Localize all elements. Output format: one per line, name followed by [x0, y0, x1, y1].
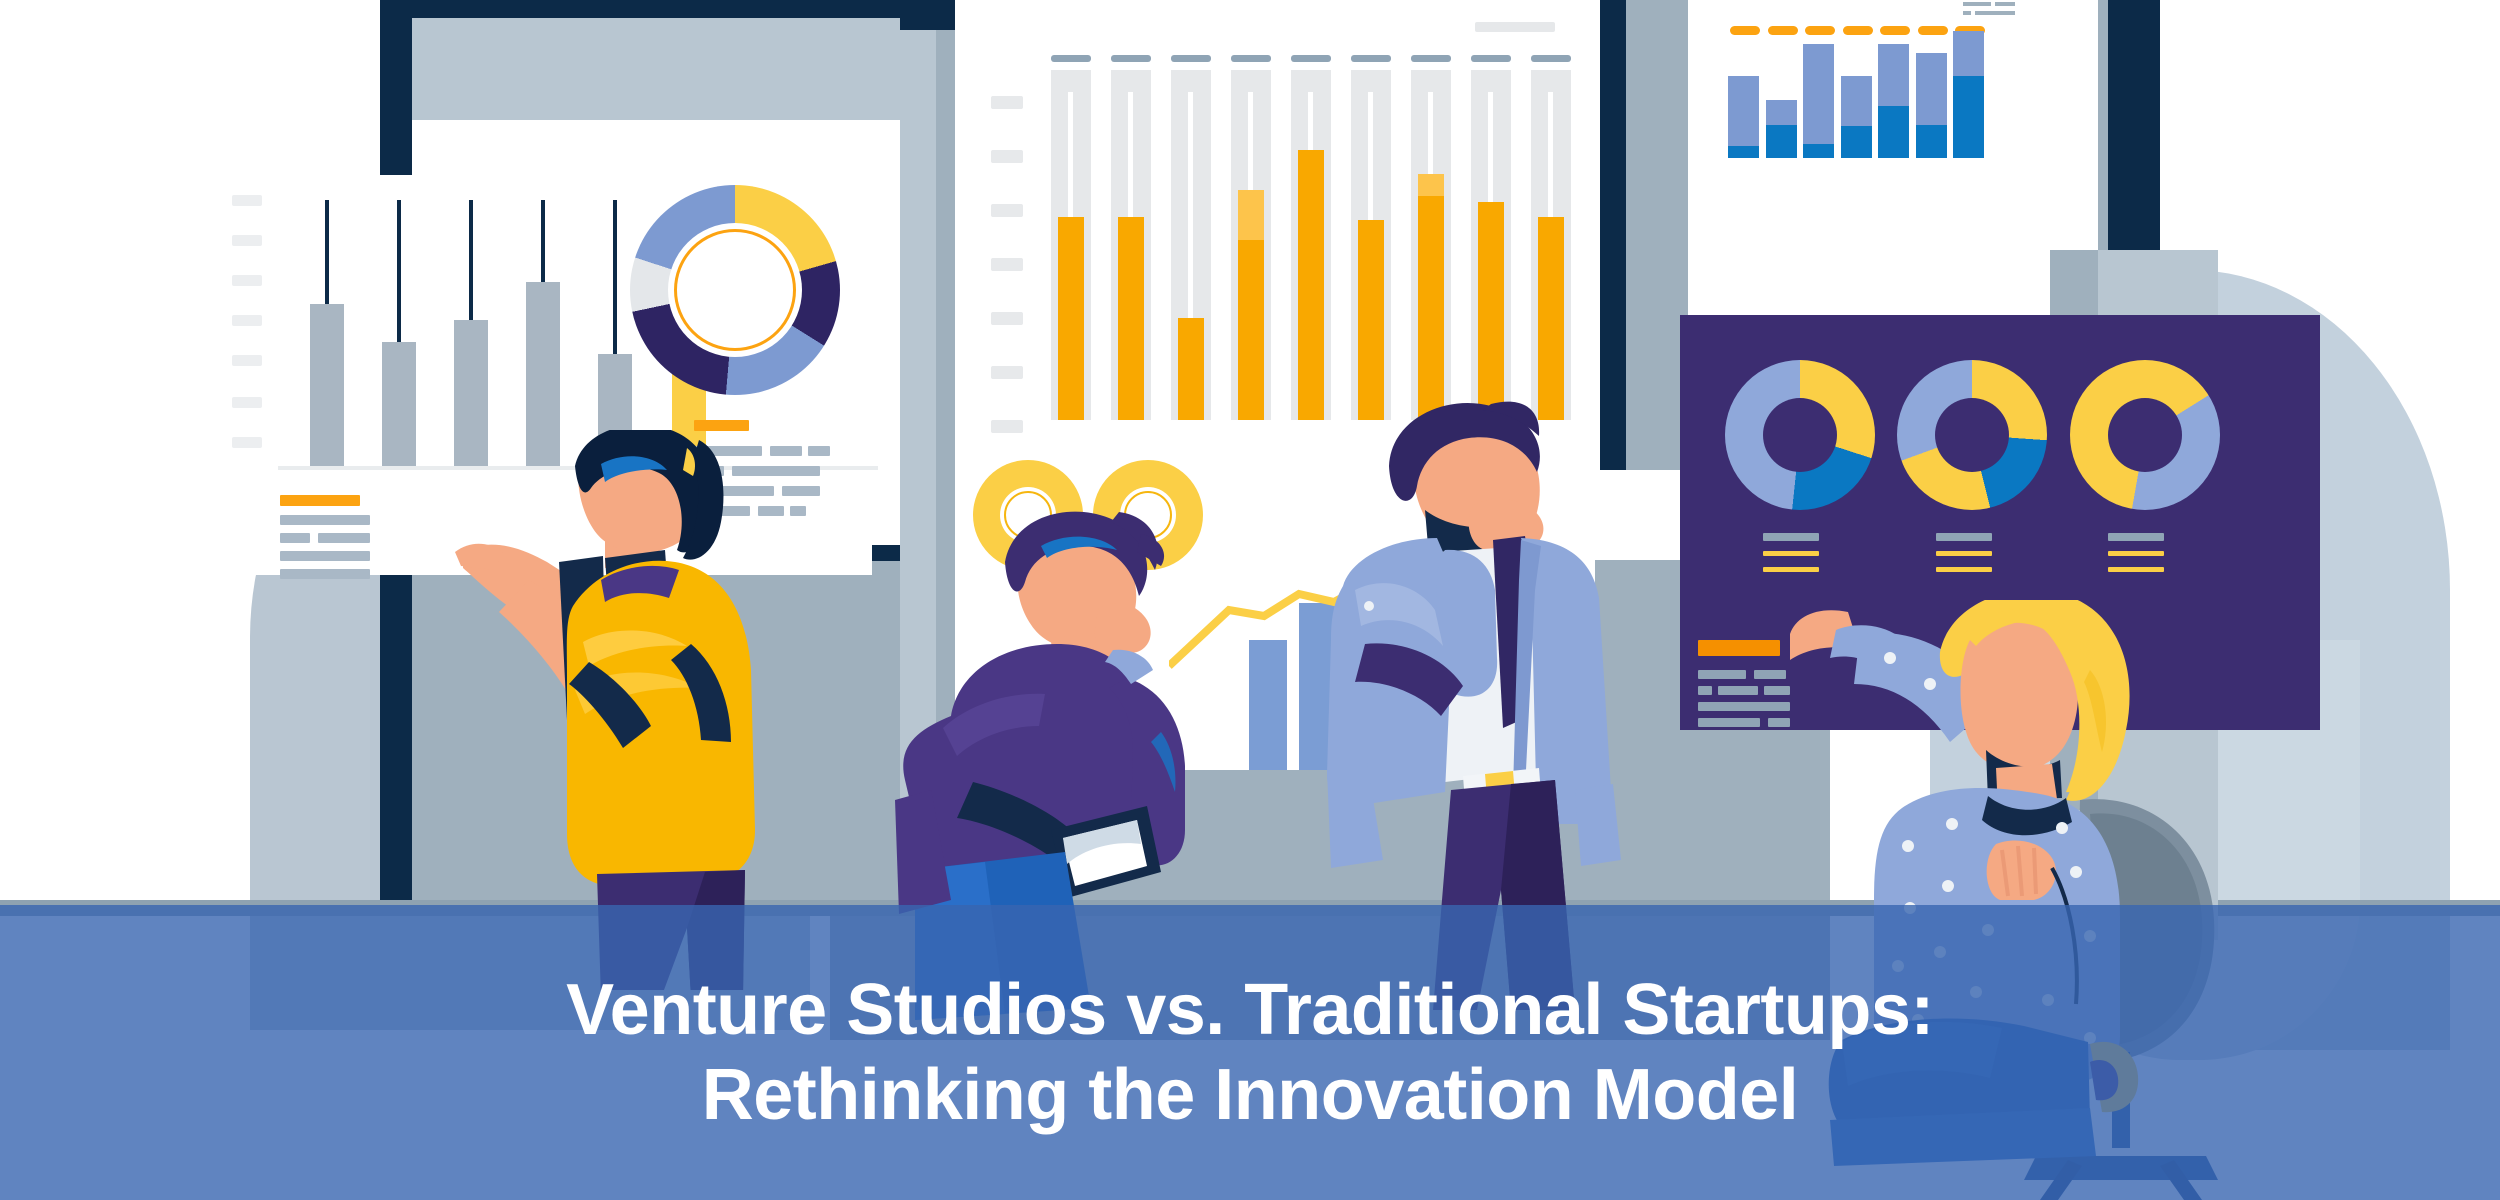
donut-chart-left — [630, 185, 840, 395]
bar-5 — [1298, 150, 1324, 420]
bar-1 — [1058, 217, 1084, 420]
bar-4 — [1238, 240, 1264, 420]
stacked-bar-4-upper — [1841, 76, 1872, 126]
bar-4-highlight — [1238, 190, 1264, 240]
stacked-bar-2-lower — [1766, 125, 1797, 158]
chart-card-top-right — [1688, 0, 2098, 250]
bar-8 — [1478, 202, 1504, 420]
stacked-bar-6-lower — [1916, 125, 1947, 158]
stacked-bar-3-upper — [1803, 44, 1834, 144]
bar-2 — [1118, 217, 1144, 420]
donut-chart-1 — [1725, 360, 1875, 510]
bar-3 — [1178, 318, 1204, 420]
stacked-bar-1-lower — [1728, 146, 1759, 158]
bar-7 — [1418, 196, 1444, 420]
illustration-canvas: Venture Studios vs. Traditional Startups… — [0, 0, 2500, 1200]
stacked-bar-6-upper — [1916, 53, 1947, 125]
title-line-1: Venture Studios vs. Traditional Startups… — [566, 968, 1934, 1053]
title-block: Venture Studios vs. Traditional Startups… — [0, 905, 2500, 1200]
bar-7-highlight — [1418, 174, 1444, 196]
stacked-bar-1-upper — [1728, 76, 1759, 146]
stacked-bar-3-lower — [1803, 144, 1834, 158]
donut-inner-ring — [674, 229, 796, 351]
stacked-bar-5-upper — [1878, 44, 1909, 106]
stacked-bar-4-lower — [1841, 126, 1872, 158]
bar-2 — [382, 342, 416, 466]
title-line-2: Rethinking the Innovation Model — [702, 1053, 1798, 1138]
bar-chart-center — [955, 0, 1595, 440]
board-left-top-panel — [412, 0, 942, 120]
stacked-bar-7-lower — [1953, 76, 1984, 158]
donut-chart-2 — [1897, 360, 2047, 510]
stacked-bar-5-lower — [1878, 106, 1909, 158]
stacked-bar-2-upper — [1766, 100, 1797, 125]
donut-chart-3 — [2070, 360, 2220, 510]
stacked-bar-7-upper — [1953, 31, 1984, 76]
bar-1 — [310, 304, 344, 466]
board-left-top-edge — [380, 0, 940, 18]
